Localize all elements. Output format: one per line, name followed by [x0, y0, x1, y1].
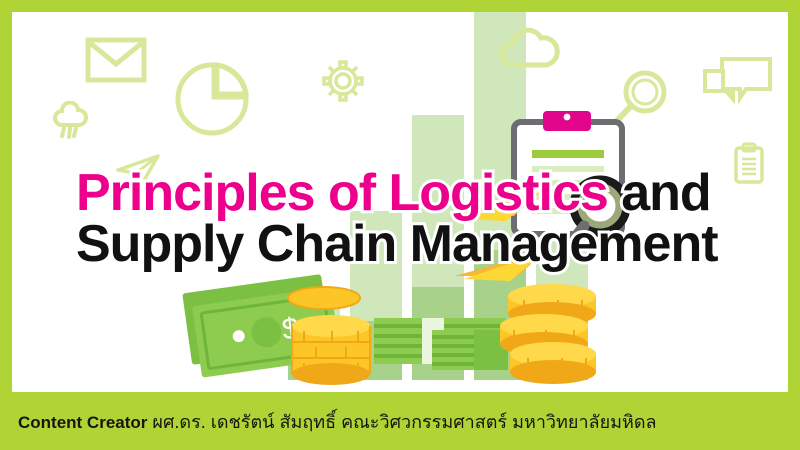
footer-author-name: ผศ.ดร. เดชรัตน์ สัมฤทธิ์ คณะวิศวกรรมศาสต… [147, 412, 656, 432]
speech-bubbles-icon [702, 53, 774, 109]
coin-stack-left [284, 282, 382, 392]
title-highlight: Principles of Logistics [76, 164, 608, 222]
rain-cloud-icon [49, 101, 93, 145]
slide-root: $ [0, 0, 800, 450]
gear-icon [322, 60, 364, 102]
title-line2-text: Supply Chain Management [76, 215, 718, 273]
pie-chart-icon [173, 60, 251, 138]
bill-edge-right [432, 330, 508, 381]
title-block: Principles of Logistics and Supply Chain… [0, 168, 800, 271]
footer-bar: Content Creator ผศ.ดร. เดชรัตน์ สัมฤทธิ์… [0, 392, 800, 450]
cloud-icon [495, 21, 565, 71]
footer-role-label: Content Creator [18, 413, 147, 432]
footer-credit: Content Creator ผศ.ดร. เดชรัตน์ สัมฤทธิ์… [0, 407, 657, 436]
title-line1-rest: and [608, 164, 711, 222]
envelope-icon [85, 37, 147, 83]
title-line-2: Supply Chain Management [76, 219, 800, 270]
coin-stack-right [498, 282, 608, 392]
title-line-1: Principles of Logistics and [76, 168, 800, 219]
